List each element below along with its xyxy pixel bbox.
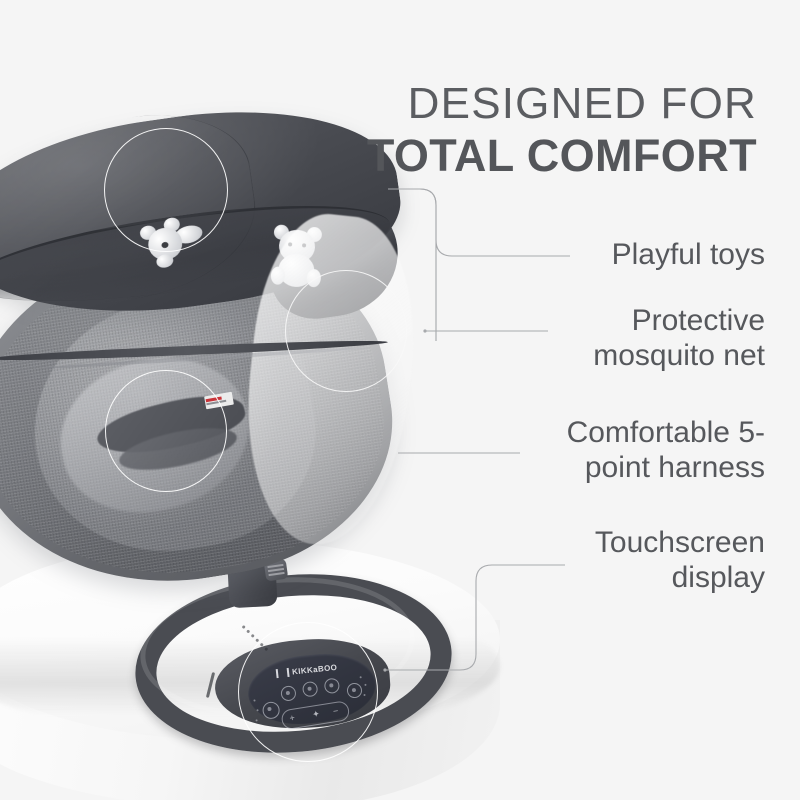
feature-label-mosquito-net: Protective mosquito net bbox=[593, 303, 765, 373]
feature-label-touchscreen: Touchscreen display bbox=[595, 525, 765, 595]
connector-dot-touchscreen bbox=[383, 668, 386, 671]
connector-touchscreen bbox=[385, 565, 565, 670]
connector-dot-mosquito-net bbox=[423, 329, 426, 332]
headline-line-2: TOTAL COMFORT bbox=[367, 133, 757, 178]
feature-label-playful-toys: Playful toys bbox=[612, 237, 765, 272]
feature-label-harness-line2: point harness bbox=[567, 450, 765, 485]
connector-playful-toys bbox=[388, 189, 570, 256]
feature-label-mosquito-net-line1: Protective bbox=[593, 303, 765, 338]
feature-label-harness-line1: Comfortable 5- bbox=[567, 415, 765, 450]
feature-label-mosquito-net-line2: mosquito net bbox=[593, 338, 765, 373]
feature-label-harness: Comfortable 5- point harness bbox=[567, 415, 765, 485]
line-playful-toys-vertical bbox=[388, 189, 436, 341]
feature-label-touchscreen-line1: Touchscreen bbox=[595, 525, 765, 560]
headline-line-1: DESIGNED FOR bbox=[408, 82, 757, 126]
feature-label-playful-toys-text: Playful toys bbox=[612, 237, 765, 272]
feature-label-touchscreen-line2: display bbox=[595, 560, 765, 595]
infographic-canvas: KIKKaBOO + ✦ − bbox=[0, 0, 800, 800]
